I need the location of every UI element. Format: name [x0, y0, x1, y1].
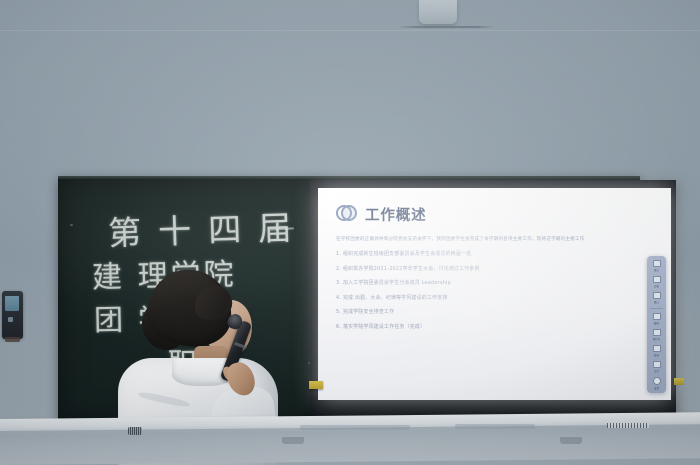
screenshot-root: 第 十 四 届 建 理学院 团 学生会 职 会 工作概述 在学校团委的正确领导和…	[0, 0, 700, 465]
wall-vignette	[0, 0, 700, 465]
